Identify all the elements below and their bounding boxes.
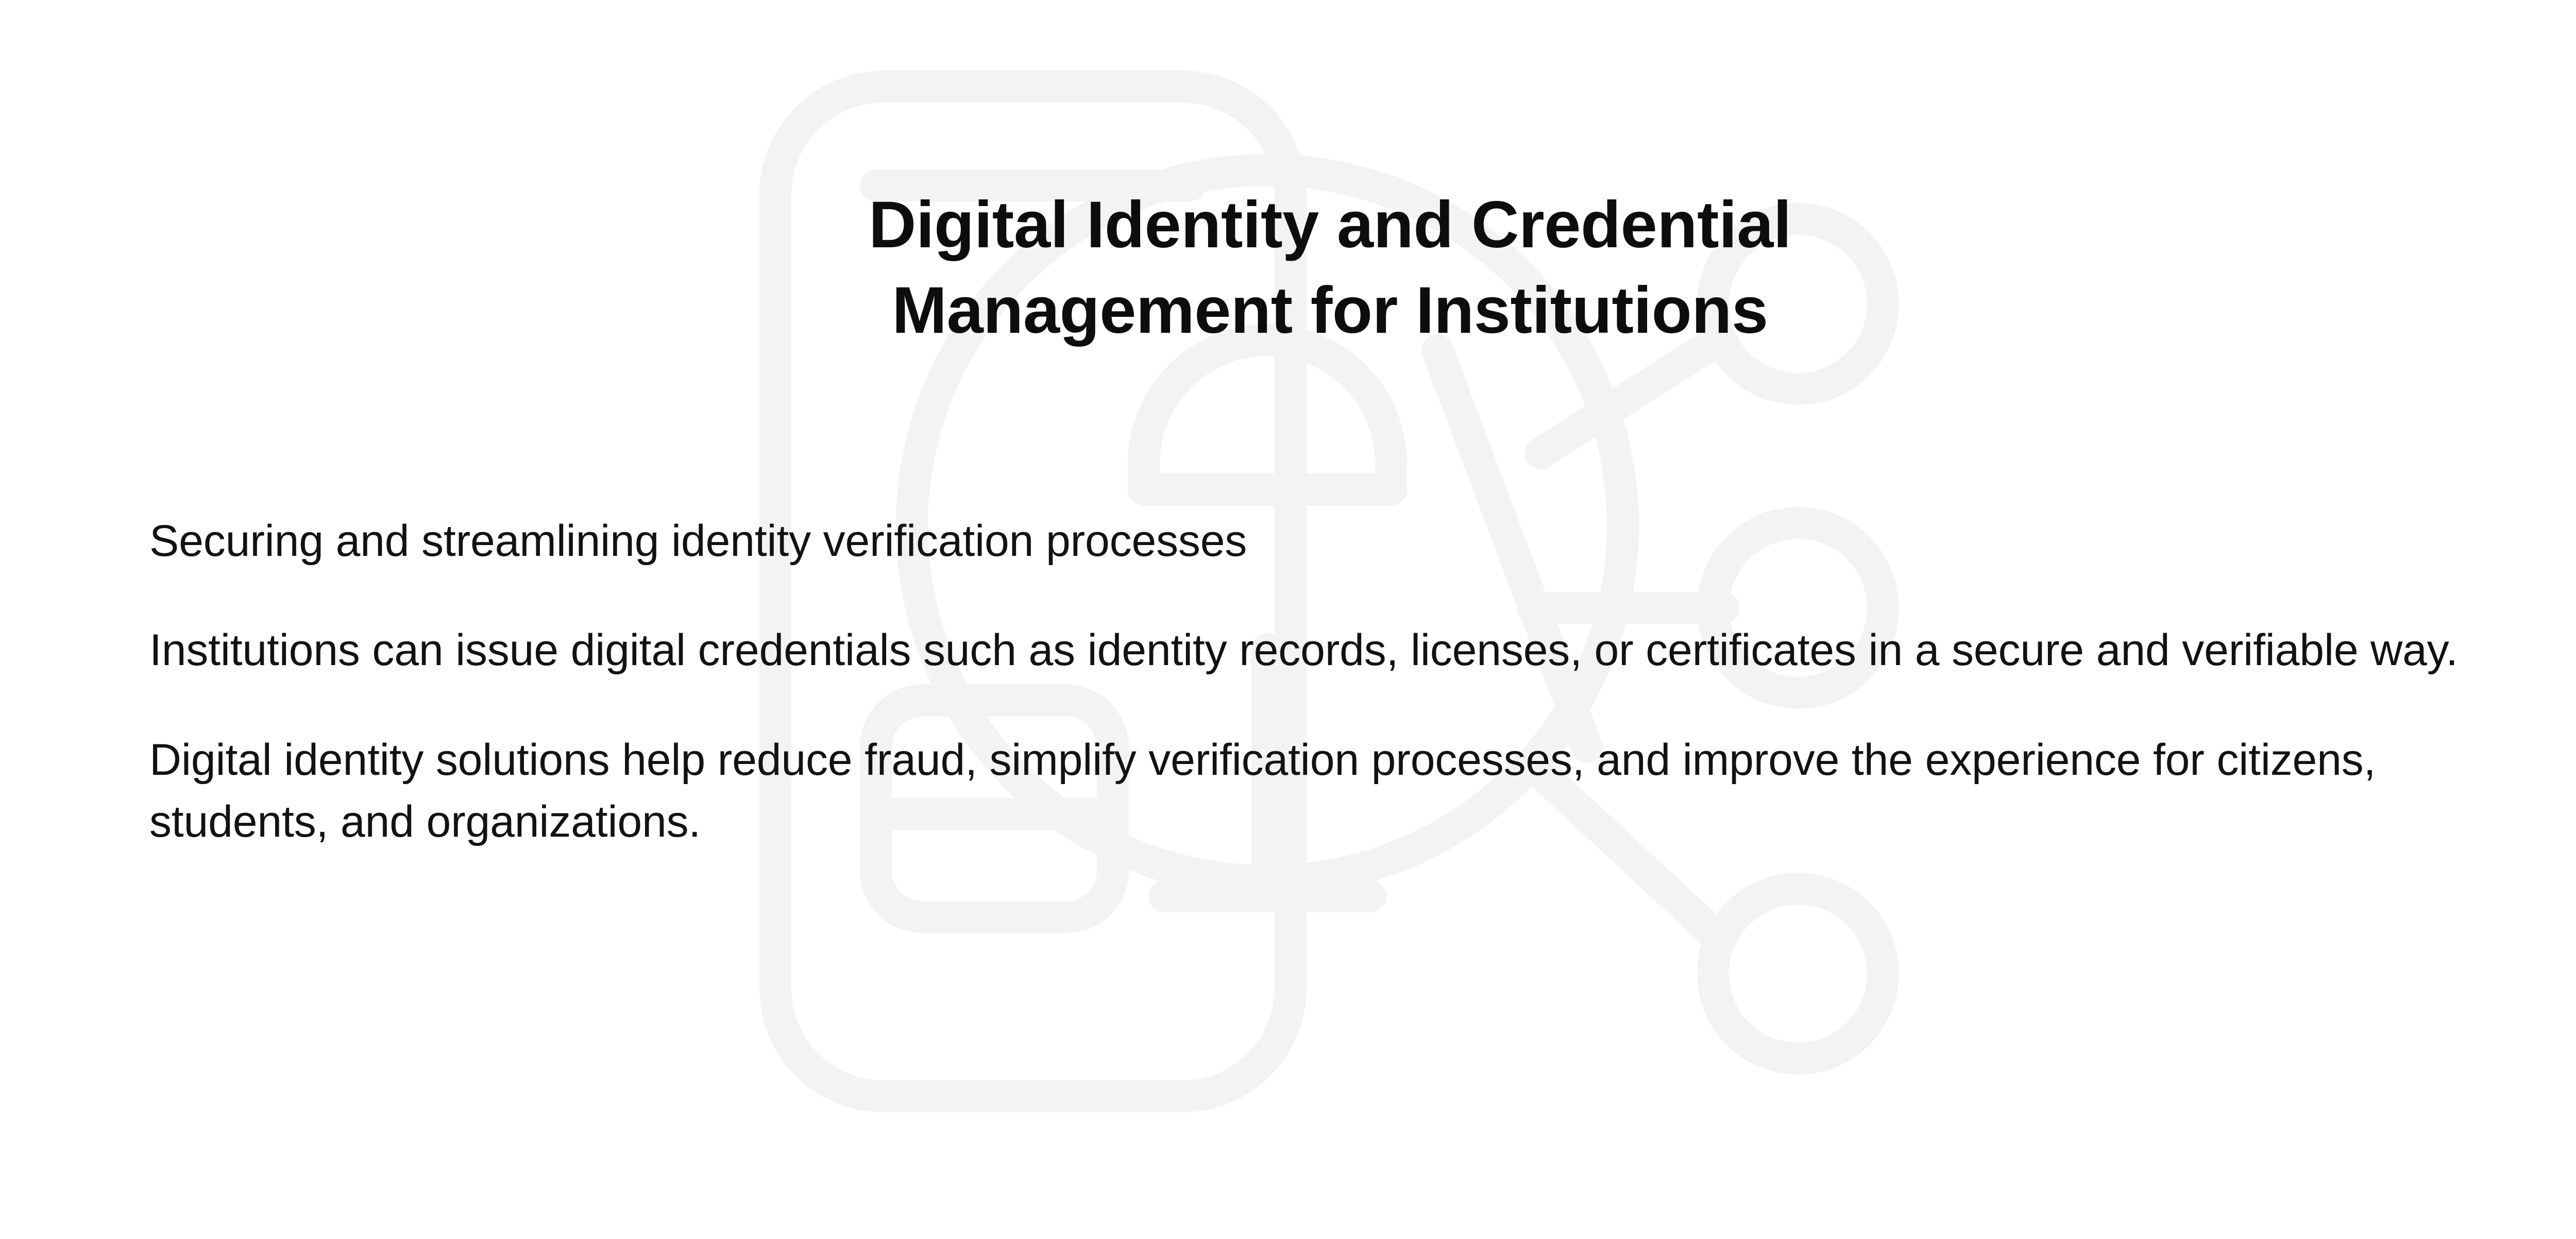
body-paragraph-1: Securing and streamlining identity verif… [149, 510, 2540, 572]
body-paragraph-2: Institutions can issue digital credentia… [149, 619, 2540, 681]
body-paragraph-3: Digital identity solutions help reduce f… [149, 729, 2540, 853]
page-title: Digital Identity and Credential Manageme… [0, 182, 2576, 354]
page-title-line-1: Digital Identity and Credential [289, 182, 2371, 268]
slide-canvas: Digital Identity and Credential Manageme… [0, 0, 2576, 1239]
body-copy: Securing and streamlining identity verif… [149, 510, 2540, 853]
slide-content: Digital Identity and Credential Manageme… [0, 0, 2576, 1239]
page-title-line-2: Management for Institutions [289, 268, 2371, 353]
